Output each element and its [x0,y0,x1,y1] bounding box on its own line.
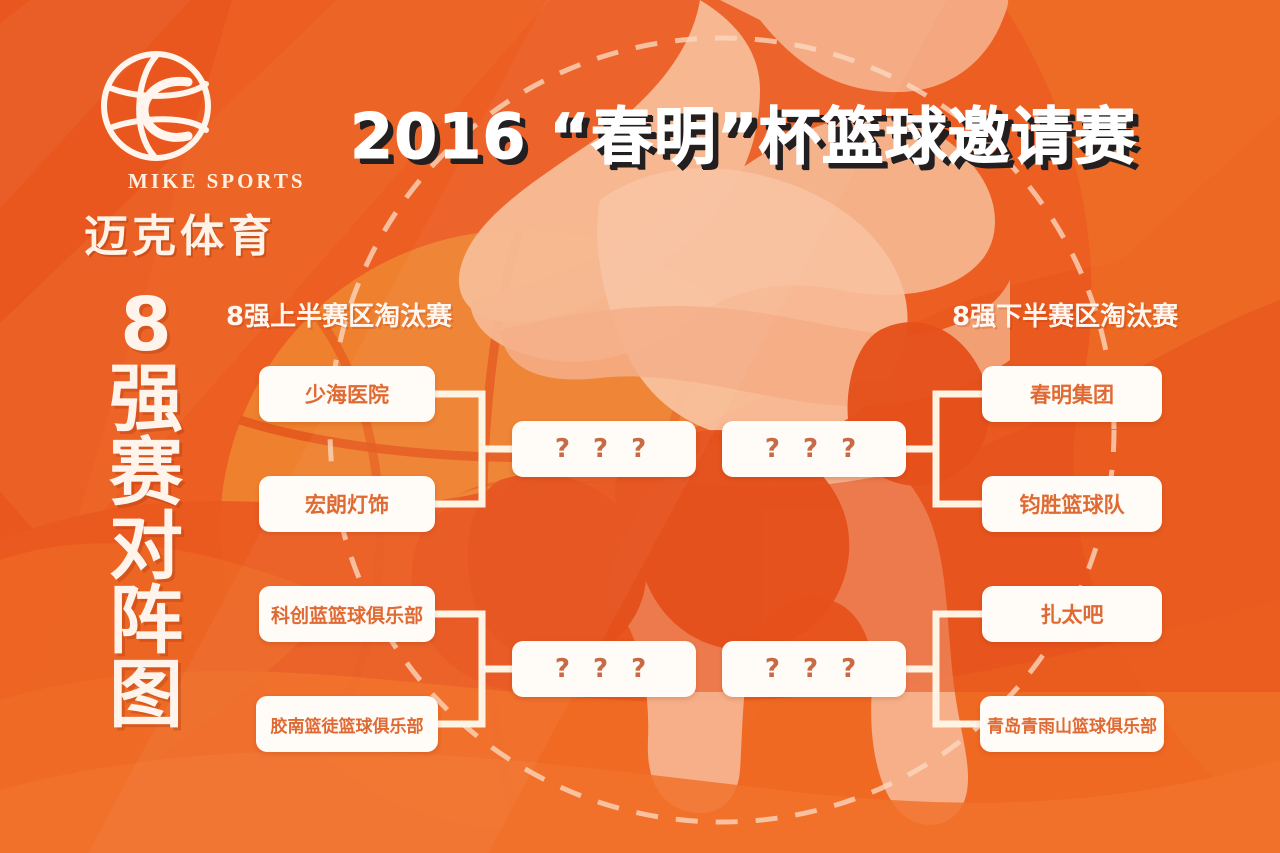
semifinal-slot-lower-right[interactable]: ? ? ? [722,641,906,697]
team-box-kechuanglan-club[interactable]: 科创蓝篮球俱乐部 [259,586,435,642]
semifinal-slot-upper-left[interactable]: ? ? ? [512,421,696,477]
team-box-qingdao-qingyushan-club[interactable]: 青岛青雨山篮球俱乐部 [980,696,1164,752]
team-box-junsheng-basketball[interactable]: 钧胜篮球队 [982,476,1162,532]
semifinal-slot-lower-left[interactable]: ? ? ? [512,641,696,697]
tournament-bracket-poster: MIKE SPORTS 迈克体育 2016 “春明”杯篮球邀请赛 8 强 赛 对… [0,0,1280,853]
semifinal-slot-upper-right[interactable]: ? ? ? [722,421,906,477]
team-box-jiaonan-lantu-club[interactable]: 胶南篮徒篮球俱乐部 [256,696,438,752]
team-box-zhataiba[interactable]: 扎太吧 [982,586,1162,642]
team-box-shaohai-hospital[interactable]: 少海医院 [259,366,435,422]
team-box-honglang-lighting[interactable]: 宏朗灯饰 [259,476,435,532]
team-box-chunming-group[interactable]: 春明集团 [982,366,1162,422]
